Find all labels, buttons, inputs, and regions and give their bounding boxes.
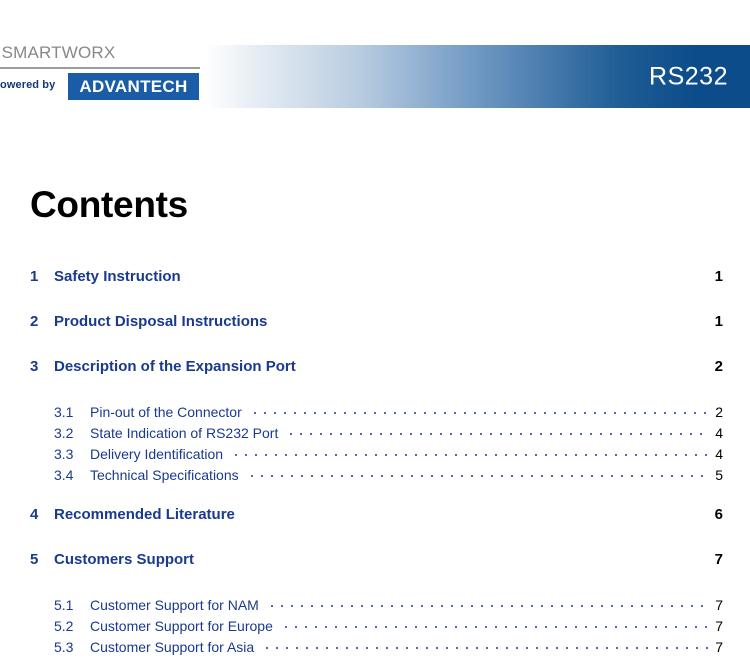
toc-entry-title: State Indication of RS232 Port xyxy=(90,425,278,441)
toc-page-number: 2 xyxy=(713,404,723,420)
toc-entry-number: 5.1 xyxy=(54,597,90,613)
toc-entry[interactable]: 3.2State Indication of RS232 Port4 xyxy=(30,424,723,445)
toc-dot-leader xyxy=(286,424,708,438)
toc-entry[interactable]: 5.2Customer Support for Europe7 xyxy=(30,617,723,638)
document-header: B SmartWorx owered by ADVANTECH RS232 xyxy=(0,0,750,120)
toc-entry[interactable]: 5Customers Support7 xyxy=(30,551,723,581)
toc-entry[interactable]: 3Description of the Expansion Port2 xyxy=(30,358,723,388)
toc-entry-number: 3.3 xyxy=(54,446,90,462)
toc-entry-number: 3.2 xyxy=(54,425,90,441)
toc-entry-title: Product Disposal Instructions xyxy=(54,313,267,330)
toc-entry-title: Description of the Expansion Port xyxy=(54,358,296,375)
toc-page-number: 5 xyxy=(713,467,723,483)
toc-entry-title: Customer Support for NAM xyxy=(90,597,259,613)
toc-entry-title: Pin-out of the Connector xyxy=(90,404,242,420)
toc-entry[interactable]: 1Safety Instruction1 xyxy=(30,268,723,298)
toc-page-number: 7 xyxy=(713,639,723,655)
toc-entry-number: 3 xyxy=(30,358,54,375)
toc-dot-leader xyxy=(247,466,708,480)
banner-title: RS232 xyxy=(649,64,728,89)
toc-entry[interactable]: 2Product Disposal Instructions1 xyxy=(30,313,723,343)
toc-page-number: 1 xyxy=(713,268,723,285)
toc-dot-leader xyxy=(281,617,708,631)
toc-entry[interactable]: 3.4Technical Specifications5 xyxy=(30,466,723,487)
toc-entry-number: 5.2 xyxy=(54,618,90,634)
toc-entry[interactable]: 3.1Pin-out of the Connector2 xyxy=(30,403,723,424)
brand-logo: B SmartWorx owered by ADVANTECH xyxy=(0,36,200,65)
toc-entry-number: 3.4 xyxy=(54,467,90,483)
toc-entry[interactable]: 3.3Delivery Identification4 xyxy=(30,445,723,466)
toc-entry-title: Safety Instruction xyxy=(54,268,181,285)
toc-entry-number: 5 xyxy=(30,551,54,568)
toc-page-number: 7 xyxy=(713,597,723,613)
header-banner: RS232 xyxy=(205,45,750,108)
advantech-logo: ADVANTECH xyxy=(68,73,199,100)
toc-entry-title: Customer Support for Asia xyxy=(90,639,254,655)
brand-divider-rule xyxy=(0,67,200,69)
toc-entry-number: 3.1 xyxy=(54,404,90,420)
toc-entry-title: Technical Specifications xyxy=(90,467,239,483)
toc-entry[interactable]: 4Recommended Literature6 xyxy=(30,506,723,536)
powered-by-row: owered by ADVANTECH xyxy=(0,73,200,101)
toc-page-number: 4 xyxy=(713,425,723,441)
toc-page-number: 6 xyxy=(713,506,723,523)
toc-entry-title: Customer Support for Europe xyxy=(90,618,273,634)
toc-page-number: 4 xyxy=(713,446,723,462)
toc-entry-number: 1 xyxy=(30,268,54,285)
toc-dot-leader xyxy=(267,596,708,610)
toc-page-number: 7 xyxy=(713,618,723,634)
toc-page-number: 2 xyxy=(713,358,723,375)
toc-entry-title: Customers Support xyxy=(54,551,194,568)
powered-by-label: owered by xyxy=(0,79,55,91)
advantech-wordmark: ADVANTECH xyxy=(79,78,187,95)
toc-entry-title: Recommended Literature xyxy=(54,506,235,523)
table-of-contents: 1Safety Instruction12Product Disposal In… xyxy=(30,268,723,659)
toc-entry-number: 5.3 xyxy=(54,639,90,655)
toc-entry[interactable]: 5.3Customer Support for Asia7 xyxy=(30,638,723,659)
toc-entry[interactable]: 5.1Customer Support for NAM7 xyxy=(30,596,723,617)
page-title: Contents xyxy=(30,186,188,223)
toc-page-number: 7 xyxy=(713,551,723,568)
toc-dot-leader xyxy=(231,445,708,459)
smartworx-wordmark: SmartWorx xyxy=(2,39,116,63)
toc-entry-number: 4 xyxy=(30,506,54,523)
toc-page-number: 1 xyxy=(713,313,723,330)
toc-entry-number: 2 xyxy=(30,313,54,330)
toc-entry-title: Delivery Identification xyxy=(90,446,223,462)
brand-smartworx-logo: B SmartWorx xyxy=(0,36,200,65)
toc-dot-leader xyxy=(250,403,708,417)
